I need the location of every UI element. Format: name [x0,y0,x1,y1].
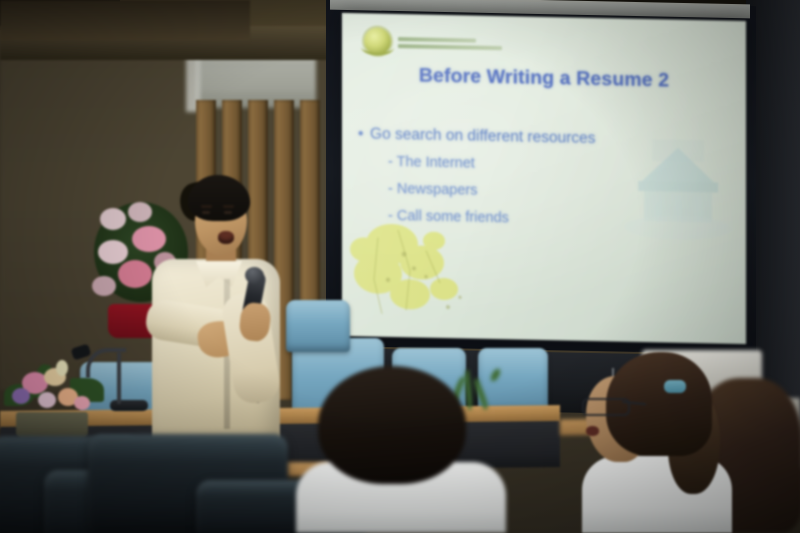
student-mouth [586,426,599,436]
speaker-eye [224,211,232,214]
slide-bullet: •Go search on different resources [358,125,738,151]
bouquet-bloom [74,396,90,410]
student-hair [318,366,466,484]
slide-sub-bullet: - The Internet [388,154,738,177]
ceiling-beam-corner [0,0,250,40]
slide-title: Before Writing a Resume 2 [342,63,746,94]
speaker-eyebrow [201,205,212,208]
bouquet-bloom [56,360,68,376]
speaker-mouth [218,231,234,244]
institution-name-line [398,44,502,50]
speaker-eyebrow [223,205,234,208]
hair-tie [664,380,686,393]
wreath-bloom [98,240,128,264]
bullet-text: Go search on different resources [370,126,595,148]
projection-screen: Before Writing a Resume 2 •Go search on … [342,13,746,344]
university-logo-icon [364,27,391,55]
slide-body: •Go search on different resources - The … [358,125,738,242]
student-center [296,366,506,533]
bouquet-bloom [38,392,56,408]
slide-header [364,27,502,57]
institution-name-line [398,37,476,43]
bouquet-bloom [12,388,30,404]
bouquet-vase [16,412,88,438]
slide-sub-bullet: - Call some friends [388,208,738,231]
flower-bouquet [4,358,112,438]
lecture-room-photo: Before Writing a Resume 2 •Go search on … [0,0,800,533]
student-right-glasses [576,352,736,533]
wreath-bloom [92,276,116,296]
wreath-bloom [100,208,126,230]
institution-name-script [398,35,502,50]
bullet-marker: • [358,125,370,143]
slide-sub-bullet: - Newspapers [388,181,738,204]
speaker-hair [188,175,250,221]
speaker-eye [202,211,210,214]
